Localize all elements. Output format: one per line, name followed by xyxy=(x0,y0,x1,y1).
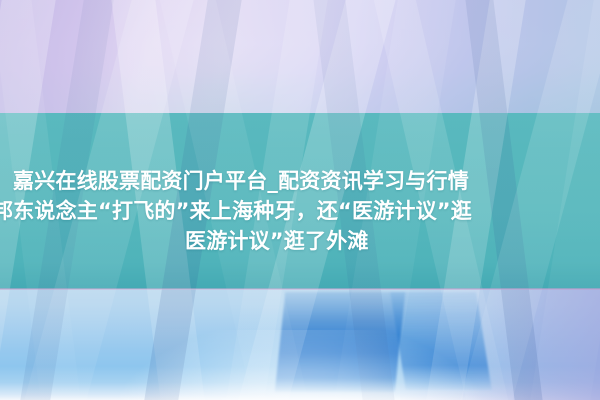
background-top-purple-band xyxy=(0,0,600,120)
news-banner-image: 嘉兴在线股票配资门户平台_配资资讯学习与行情 邦东说念主“打飞的”来上海种牙，还… xyxy=(0,0,600,400)
headline-line-1: 嘉兴在线股票配资门户平台_配资资讯学习与行情 xyxy=(0,166,600,196)
headline-line-2: 邦东说念主“打飞的”来上海种牙，还“医游计议”逛 xyxy=(0,196,600,226)
divider-hairline xyxy=(0,288,600,290)
footer-watermark xyxy=(0,384,600,398)
headline-line-3: 医游计议”逛了外滩 xyxy=(0,226,600,256)
headline-text-block: 嘉兴在线股票配资门户平台_配资资讯学习与行情 邦东说念主“打飞的”来上海种牙，还… xyxy=(0,166,600,256)
